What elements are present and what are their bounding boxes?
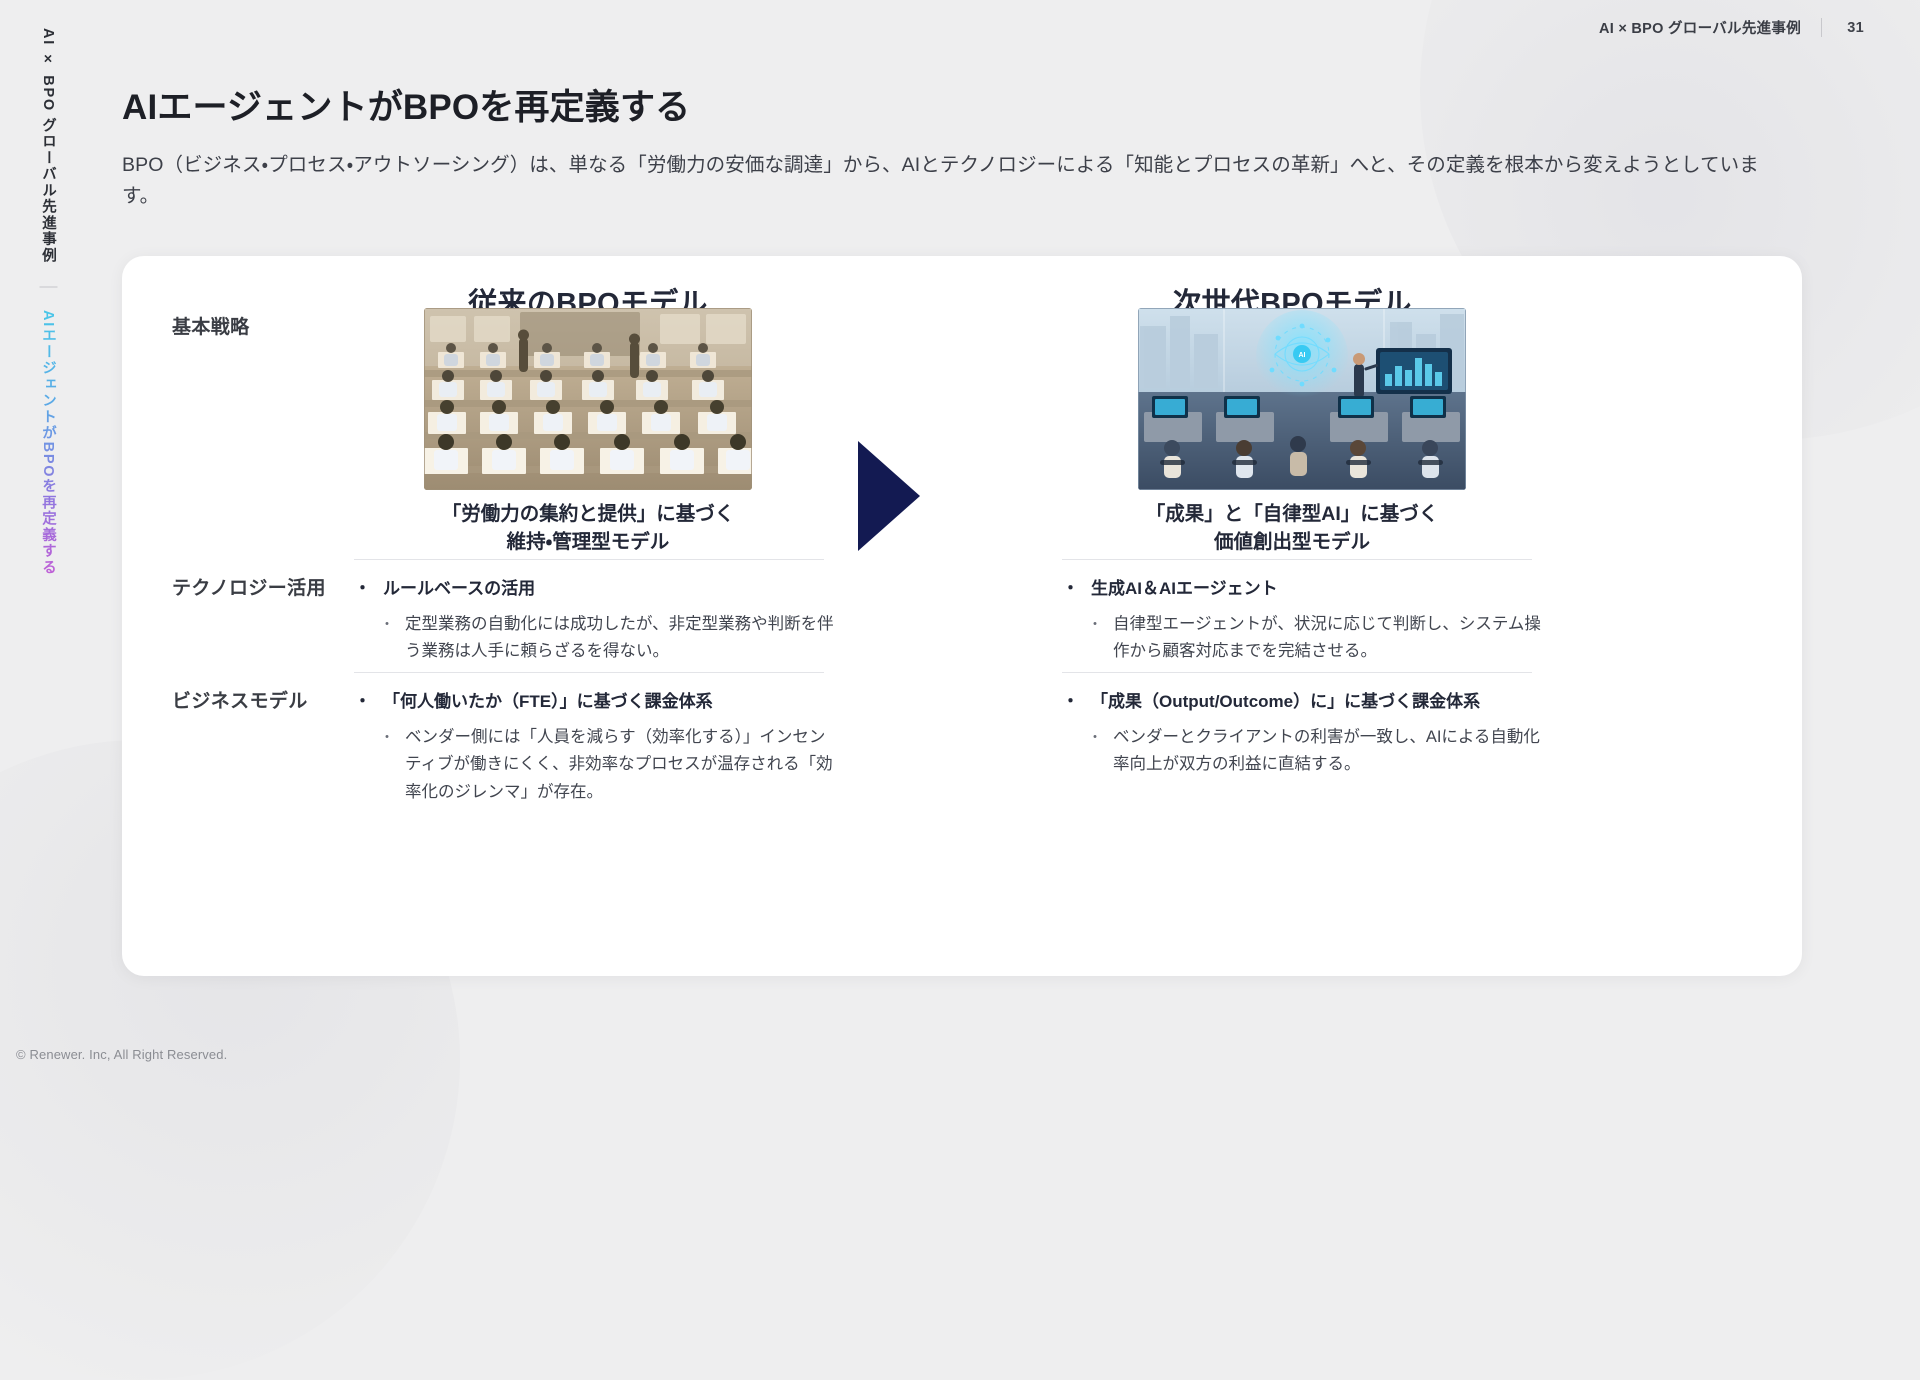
transition-arrow-icon (858, 441, 920, 551)
header-divider (1821, 18, 1822, 37)
bullet-detail: ・ ベンダーとクライアントの利害が一致し、AIによる自動化率向上が双方の利益に直… (1088, 724, 1542, 779)
column-headers: 従来のBPOモデル Traditional BPO 次世代BPOモデル AIエー… (122, 280, 1802, 370)
row-label-business-model: ビジネスモデル (172, 686, 372, 713)
sub-bullet-glyph-icon: ・ (380, 724, 394, 807)
heading-block: AIエージェントがBPOを再定義する BPO（ビジネス・プロセス・アウトソーシン… (122, 86, 1802, 213)
bullet-headline: ・ 「成果（Output/Outcome）に」に基づく課金体系 (1062, 689, 1542, 715)
caption-nextgen: 「成果」と「自律型AI」に基づく 価値創出型モデル (1032, 501, 1552, 556)
bullet-detail: ・ 定型業務の自動化には成功したが、非定型業務や判断を伴う業務は人手に頼らざるを… (380, 611, 834, 666)
bullet-block-right-technology: ・ 生成AI＆AIエージェント ・ 自律型エージェントが、状況に応じて判断し、シ… (1062, 576, 1542, 666)
header-deck-label: AI × BPO グローバル先進事例 (1599, 17, 1801, 38)
bullet-detail-text: 定型業務の自動化には成功したが、非定型業務や判断を伴う業務は人手に頼らざるを得な… (405, 611, 834, 666)
row-label-strategy: 基本戦略 (172, 312, 372, 339)
row-label-technology: テクノロジー活用 (172, 573, 372, 600)
caption-nextgen-line1: 「成果」と「自律型AI」に基づく (1032, 501, 1552, 529)
bullet-headline: ・ 「何人働いたか（FTE）」に基づく課金体系 (354, 689, 834, 715)
bullet-glyph-icon: ・ (1062, 576, 1079, 602)
divider-right-strategy (1062, 559, 1532, 560)
divider-right-technology (1062, 672, 1532, 673)
rail-slide-title: AIエージェントがBPOを再定義する (38, 310, 59, 576)
bullet-detail: ・ 自律型エージェントが、状況に応じて判断し、システム操作から顧客対応までを完結… (1088, 611, 1542, 666)
bullet-headline-text: 「何人働いたか（FTE）」に基づく課金体系 (383, 689, 713, 715)
page-title: AIエージェントがBPOを再定義する (122, 86, 1802, 130)
caption-nextgen-line2: 価値創出型モデル (1032, 529, 1552, 557)
bullet-detail: ・ ベンダー側には「人員を減らす（効率化する）」インセンティブが働きにくく、非効… (380, 724, 834, 807)
caption-traditional-line2: 維持・管理型モデル (328, 529, 848, 557)
bullet-headline: ・ ルールベースの活用 (354, 576, 834, 602)
slide-header: AI × BPO グローバル先進事例 31 (1599, 17, 1864, 38)
bullet-headline: ・ 生成AI＆AIエージェント (1062, 576, 1542, 602)
bullet-headline-text: ルールベースの活用 (383, 576, 535, 602)
bullet-glyph-icon: ・ (354, 689, 371, 715)
bullet-detail-text: ベンダー側には「人員を減らす（効率化する）」インセンティブが働きにくく、非効率な… (405, 724, 834, 807)
bullet-glyph-icon: ・ (1062, 689, 1079, 715)
page-lead-paragraph: BPO（ビジネス・プロセス・アウトソーシング）は、単なる「労働力の安価な調達」か… (122, 150, 1792, 213)
bullet-headline-text: 生成AI＆AIエージェント (1091, 576, 1278, 602)
bullet-detail-text: 自律型エージェントが、状況に応じて判断し、システム操作から顧客対応までを完結させ… (1113, 611, 1542, 666)
divider-left-technology (354, 672, 824, 673)
comparison-card: 従来のBPOモデル Traditional BPO 次世代BPOモデル AIエー… (122, 256, 1802, 976)
ai-bpo-illustration: AI (1138, 308, 1466, 490)
caption-traditional-line1: 「労働力の集約と提供」に基づく (328, 501, 848, 529)
bullet-headline-text: 「成果（Output/Outcome）に」に基づく課金体系 (1091, 689, 1480, 715)
header-page-number: 31 (1842, 20, 1864, 36)
caption-traditional: 「労働力の集約と提供」に基づく 維持・管理型モデル (328, 501, 848, 556)
rail-deck-label: AI × BPO グローバル先進事例 (38, 28, 59, 264)
sub-bullet-glyph-icon: ・ (1088, 724, 1102, 779)
traditional-bpo-illustration (424, 308, 752, 490)
divider-left-strategy (354, 559, 824, 560)
rail-divider (40, 286, 58, 287)
bullet-block-left-business-model: ・ 「何人働いたか（FTE）」に基づく課金体系 ・ ベンダー側には「人員を減らす… (354, 689, 834, 807)
bullet-block-right-business-model: ・ 「成果（Output/Outcome）に」に基づく課金体系 ・ ベンダーとク… (1062, 689, 1542, 779)
bullet-detail-text: ベンダーとクライアントの利害が一致し、AIによる自動化率向上が双方の利益に直結す… (1113, 724, 1542, 779)
bullet-block-left-technology: ・ ルールベースの活用 ・ 定型業務の自動化には成功したが、非定型業務や判断を伴… (354, 576, 834, 666)
footer-copyright: © Renewer. Inc, All Right Reserved. (16, 1047, 227, 1062)
sub-bullet-glyph-icon: ・ (1088, 611, 1102, 666)
svg-text:AI: AI (1299, 352, 1306, 359)
sub-bullet-glyph-icon: ・ (380, 611, 394, 666)
rail-text-group: AI × BPO グローバル先進事例 AIエージェントがBPOを再定義する (38, 28, 59, 576)
vertical-rail: AI × BPO グローバル先進事例 AIエージェントがBPOを再定義する (0, 0, 92, 1080)
bullet-glyph-icon: ・ (354, 576, 371, 602)
